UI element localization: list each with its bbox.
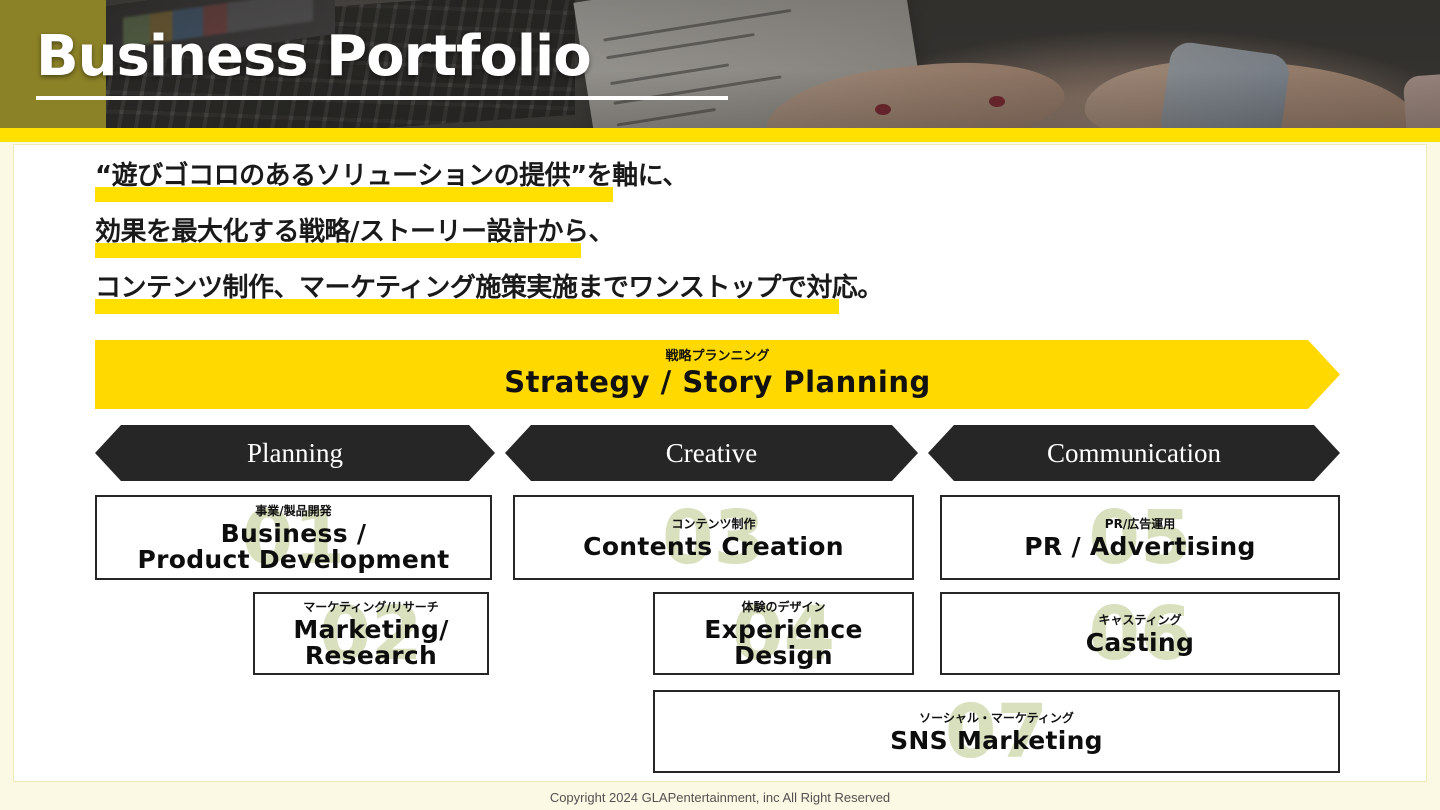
page-title-underline xyxy=(36,96,728,100)
phase-arrow-creative-label: Creative xyxy=(666,438,757,469)
lead-line-3: コンテンツ制作、マーケティング施策実施までワンストップで対応。 xyxy=(95,267,883,304)
service-jp-label: PR/広告運用 xyxy=(1105,515,1175,532)
lead-line-2-wrap: 効果を最大化する戦略/ストーリー設計から、 xyxy=(95,211,614,248)
service-box-business-product-development[interactable]: 01 事業/製品開発 Business /Product Development xyxy=(95,495,492,580)
service-box-marketing-research[interactable]: 02 マーケティング/リサーチ Marketing/Research xyxy=(253,592,489,675)
strategy-banner: 戦略プランニング Strategy / Story Planning xyxy=(95,340,1340,409)
phase-arrow-communication-label: Communication xyxy=(1047,438,1221,469)
service-jp-label: キャスティング xyxy=(1098,611,1181,628)
header-banner: Business Portfolio xyxy=(0,0,1440,128)
lead-line-3-wrap: コンテンツ制作、マーケティング施策実施までワンストップで対応。 xyxy=(95,267,883,304)
phase-arrow-planning: Planning xyxy=(95,425,495,481)
service-en-label: Marketing/Research xyxy=(293,617,448,669)
strategy-banner-subtitle: 戦略プランニング xyxy=(95,345,1340,364)
phase-arrow-planning-label: Planning xyxy=(247,438,343,469)
service-en-label: ExperienceDesign xyxy=(704,617,862,669)
service-en-label: Business /Product Development xyxy=(137,521,449,573)
service-box-sns-marketing[interactable]: 07 ソーシャル・マーケティング SNS Marketing xyxy=(653,690,1340,773)
service-jp-label: 事業/製品開発 xyxy=(255,502,331,519)
service-en-label: Contents Creation xyxy=(583,534,844,560)
phase-arrow-communication: Communication xyxy=(928,425,1340,481)
service-jp-label: マーケティング/リサーチ xyxy=(303,598,438,615)
slide-root: Business Portfolio “遊びゴコロのあるソリューションの提供”を… xyxy=(0,0,1440,810)
service-box-contents-creation[interactable]: 03 コンテンツ制作 Contents Creation xyxy=(513,495,914,580)
service-box-experience-design[interactable]: 04 体験のデザイン ExperienceDesign xyxy=(653,592,914,675)
lead-line-1-wrap: “遊びゴコロのあるソリューションの提供”を軸に、 xyxy=(95,155,688,192)
service-en-label: SNS Marketing xyxy=(890,728,1103,754)
service-jp-label: コンテンツ制作 xyxy=(671,515,755,532)
service-box-pr-advertising[interactable]: 05 PR/広告運用 PR / Advertising xyxy=(940,495,1340,580)
service-jp-label: 体験のデザイン xyxy=(741,598,825,615)
lead-line-2: 効果を最大化する戦略/ストーリー設計から、 xyxy=(95,211,614,248)
footer-copyright: Copyright 2024 GLAPentertainment, inc Al… xyxy=(0,790,1440,805)
service-en-label: PR / Advertising xyxy=(1024,534,1255,560)
header-yellow-stripe xyxy=(0,128,1440,142)
strategy-banner-title: Strategy / Story Planning xyxy=(95,365,1340,399)
service-box-casting[interactable]: 06 キャスティング Casting xyxy=(940,592,1340,675)
service-en-label: Casting xyxy=(1086,630,1194,656)
page-title: Business Portfolio xyxy=(36,24,591,89)
lead-line-1: “遊びゴコロのあるソリューションの提供”を軸に、 xyxy=(95,155,688,192)
phase-arrow-creative: Creative xyxy=(505,425,918,481)
service-jp-label: ソーシャル・マーケティング xyxy=(919,709,1074,726)
